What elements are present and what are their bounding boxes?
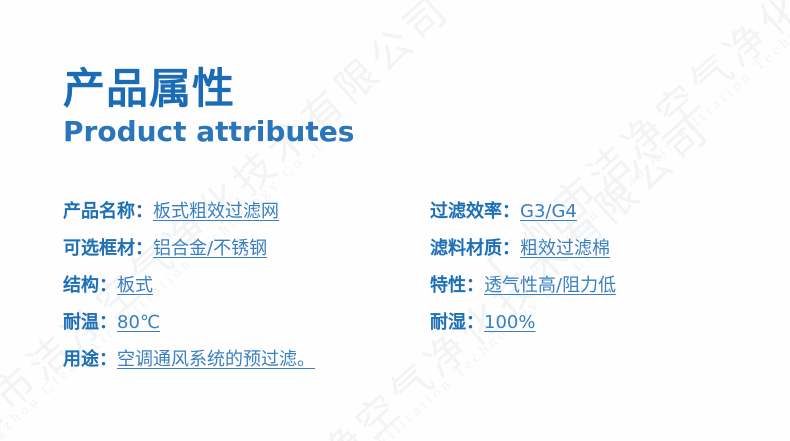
attribute-label: 用途： (63, 349, 117, 370)
attribute-value: 铝合金/不锈钢 (153, 238, 267, 259)
attribute-row: 耐湿：100% (430, 304, 770, 341)
attribute-label: 滤料材质： (430, 238, 520, 259)
attributes-column-right: 过滤效率：G3/G4 滤料材质：粗效过滤棉 特性：透气性高/阻力低 耐湿：100… (430, 193, 770, 341)
attribute-value: 板式粗效过滤网 (153, 201, 279, 222)
attribute-label: 可选框材： (63, 238, 153, 259)
product-attributes-slide: 广州市洁净空气净化技术有限公司 Guangzhou Clean Air Filt… (0, 0, 790, 441)
attribute-row: 滤料材质：粗效过滤棉 (430, 230, 770, 267)
attribute-value: 透气性高/阻力低 (484, 275, 616, 296)
attribute-value: 粗效过滤棉 (520, 238, 610, 259)
attribute-row: 结构：板式 (63, 267, 413, 304)
attribute-value: 100% (484, 312, 535, 333)
attribute-row: 耐温：80℃ (63, 304, 413, 341)
attribute-value: G3/G4 (520, 201, 577, 222)
attribute-row: 产品名称：板式粗效过滤网 (63, 193, 413, 230)
attribute-value: 板式 (117, 275, 153, 296)
page-title-en: Product attributes (63, 116, 354, 148)
attribute-value: 80℃ (117, 312, 160, 333)
page-title: 产品属性 Product attributes (63, 66, 354, 148)
attribute-row: 用途：空调通风系统的预过滤。 (63, 341, 413, 378)
attribute-row: 特性：透气性高/阻力低 (430, 267, 770, 304)
attribute-label: 产品名称： (63, 201, 153, 222)
attribute-label: 结构： (63, 275, 117, 296)
attribute-label: 耐湿： (430, 312, 484, 333)
attribute-label: 过滤效率： (430, 201, 520, 222)
attribute-value: 空调通风系统的预过滤。 (117, 349, 315, 370)
attribute-row: 可选框材：铝合金/不锈钢 (63, 230, 413, 267)
page-title-cn: 产品属性 (63, 66, 354, 112)
attribute-label: 耐温： (63, 312, 117, 333)
attributes-column-left: 产品名称：板式粗效过滤网 可选框材：铝合金/不锈钢 结构：板式 耐温：80℃ 用… (63, 193, 413, 378)
attribute-row: 过滤效率：G3/G4 (430, 193, 770, 230)
attribute-label: 特性： (430, 275, 484, 296)
